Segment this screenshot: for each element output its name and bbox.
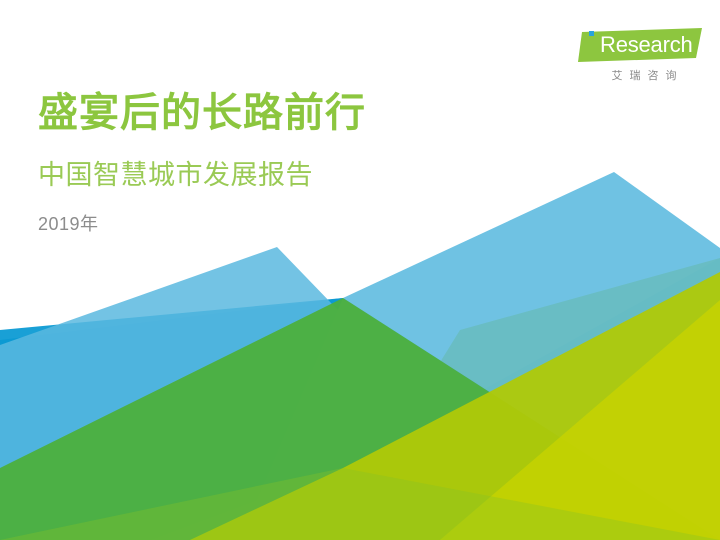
report-cover-slide: Research 艾瑞咨询 盛宴后的长路前行 中国智慧城市发展报告 2019年 [0, 0, 720, 540]
logo-i-stem-icon [589, 39, 594, 57]
page-title: 盛宴后的长路前行 [38, 88, 518, 138]
logo-chinese-name: 艾瑞咨询 [588, 68, 700, 84]
year-label: 2019年 [38, 212, 518, 236]
page-subtitle: 中国智慧城市发展报告 [38, 158, 518, 192]
logo-i-dot-icon [589, 31, 594, 36]
iresearch-logo: Research 艾瑞咨询 [578, 28, 702, 90]
logo-wordmark: Research [600, 32, 693, 58]
title-block: 盛宴后的长路前行 中国智慧城市发展报告 2019年 [38, 88, 518, 236]
